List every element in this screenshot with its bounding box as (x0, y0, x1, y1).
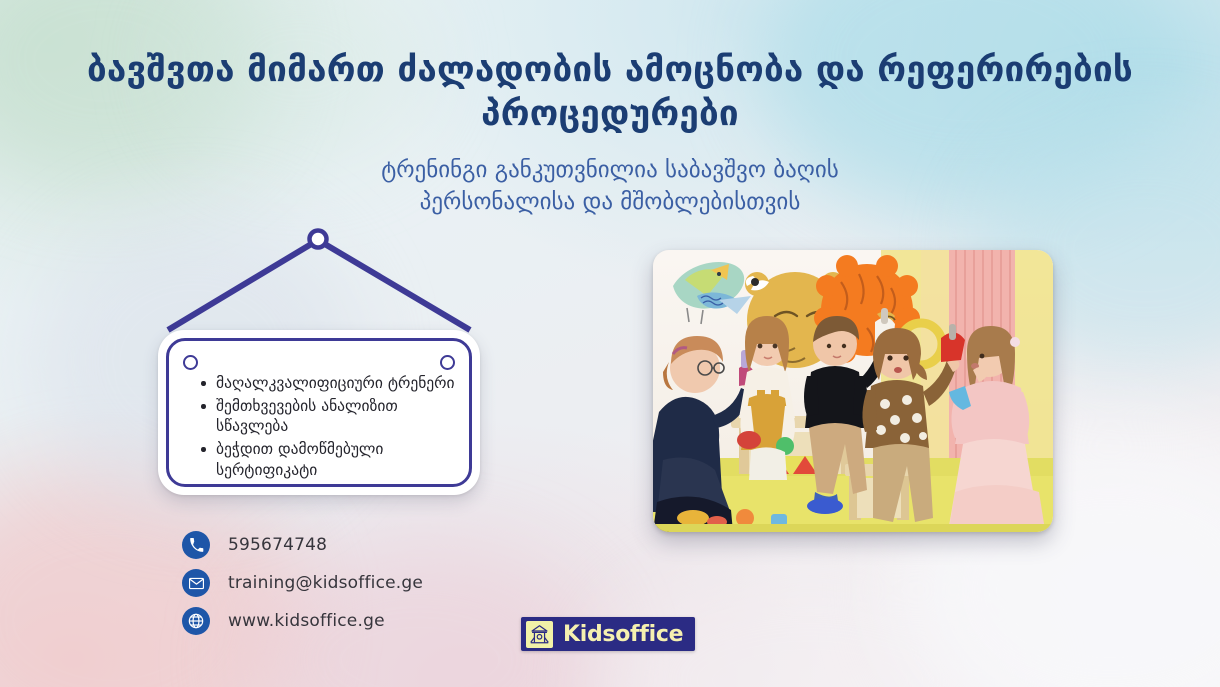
contact-row-website[interactable]: www.kidsoffice.ge (182, 604, 423, 638)
contact-website-value: www.kidsoffice.ge (228, 611, 385, 631)
list-item: ბეჭდით დამოწმებული სერტიფიკატი (201, 439, 455, 479)
list-item: მაღალკვალიფიციური ტრენერი (201, 373, 455, 393)
contact-row-phone[interactable]: 595674748 (182, 528, 423, 562)
playground-gazebo-icon (526, 621, 553, 648)
card-eyelet-right-icon (440, 355, 455, 370)
classroom-photo-illustration (653, 250, 1053, 532)
hanger-ring-icon (310, 231, 327, 248)
phone-icon (182, 531, 210, 559)
logo-wordmark: Kidsoffice (563, 622, 683, 647)
list-item: შემთხვევების ანალიზით სწავლება (201, 396, 455, 436)
kidsoffice-logo[interactable]: Kidsoffice (521, 617, 695, 651)
globe-icon (182, 607, 210, 635)
highlights-card-inner: მაღალკვალიფიციური ტრენერი შემთხვევების ა… (166, 338, 472, 487)
contact-phone-value: 595674748 (228, 535, 327, 555)
page-title: ბავშვთა მიმართ ძალადობის ამოცნობა და რეფ… (60, 48, 1160, 136)
highlights-card: მაღალკვალიფიციური ტრენერი შემთხვევების ა… (158, 330, 480, 495)
email-icon (182, 569, 210, 597)
classroom-photo (653, 250, 1053, 532)
page-subtitle: ტრენინგი განკუთვნილია საბავშვო ბაღის პერ… (310, 155, 910, 218)
contact-block: 595674748 training@kidsoffice.ge (182, 528, 423, 642)
card-eyelet-left-icon (183, 355, 198, 370)
poster-canvas: ბავშვთა მიმართ ძალადობის ამოცნობა და რეფ… (0, 0, 1220, 687)
highlights-list: მაღალკვალიფიციური ტრენერი შემთხვევების ა… (201, 373, 455, 483)
contact-row-email[interactable]: training@kidsoffice.ge (182, 566, 423, 600)
contact-email-value: training@kidsoffice.ge (228, 573, 423, 593)
